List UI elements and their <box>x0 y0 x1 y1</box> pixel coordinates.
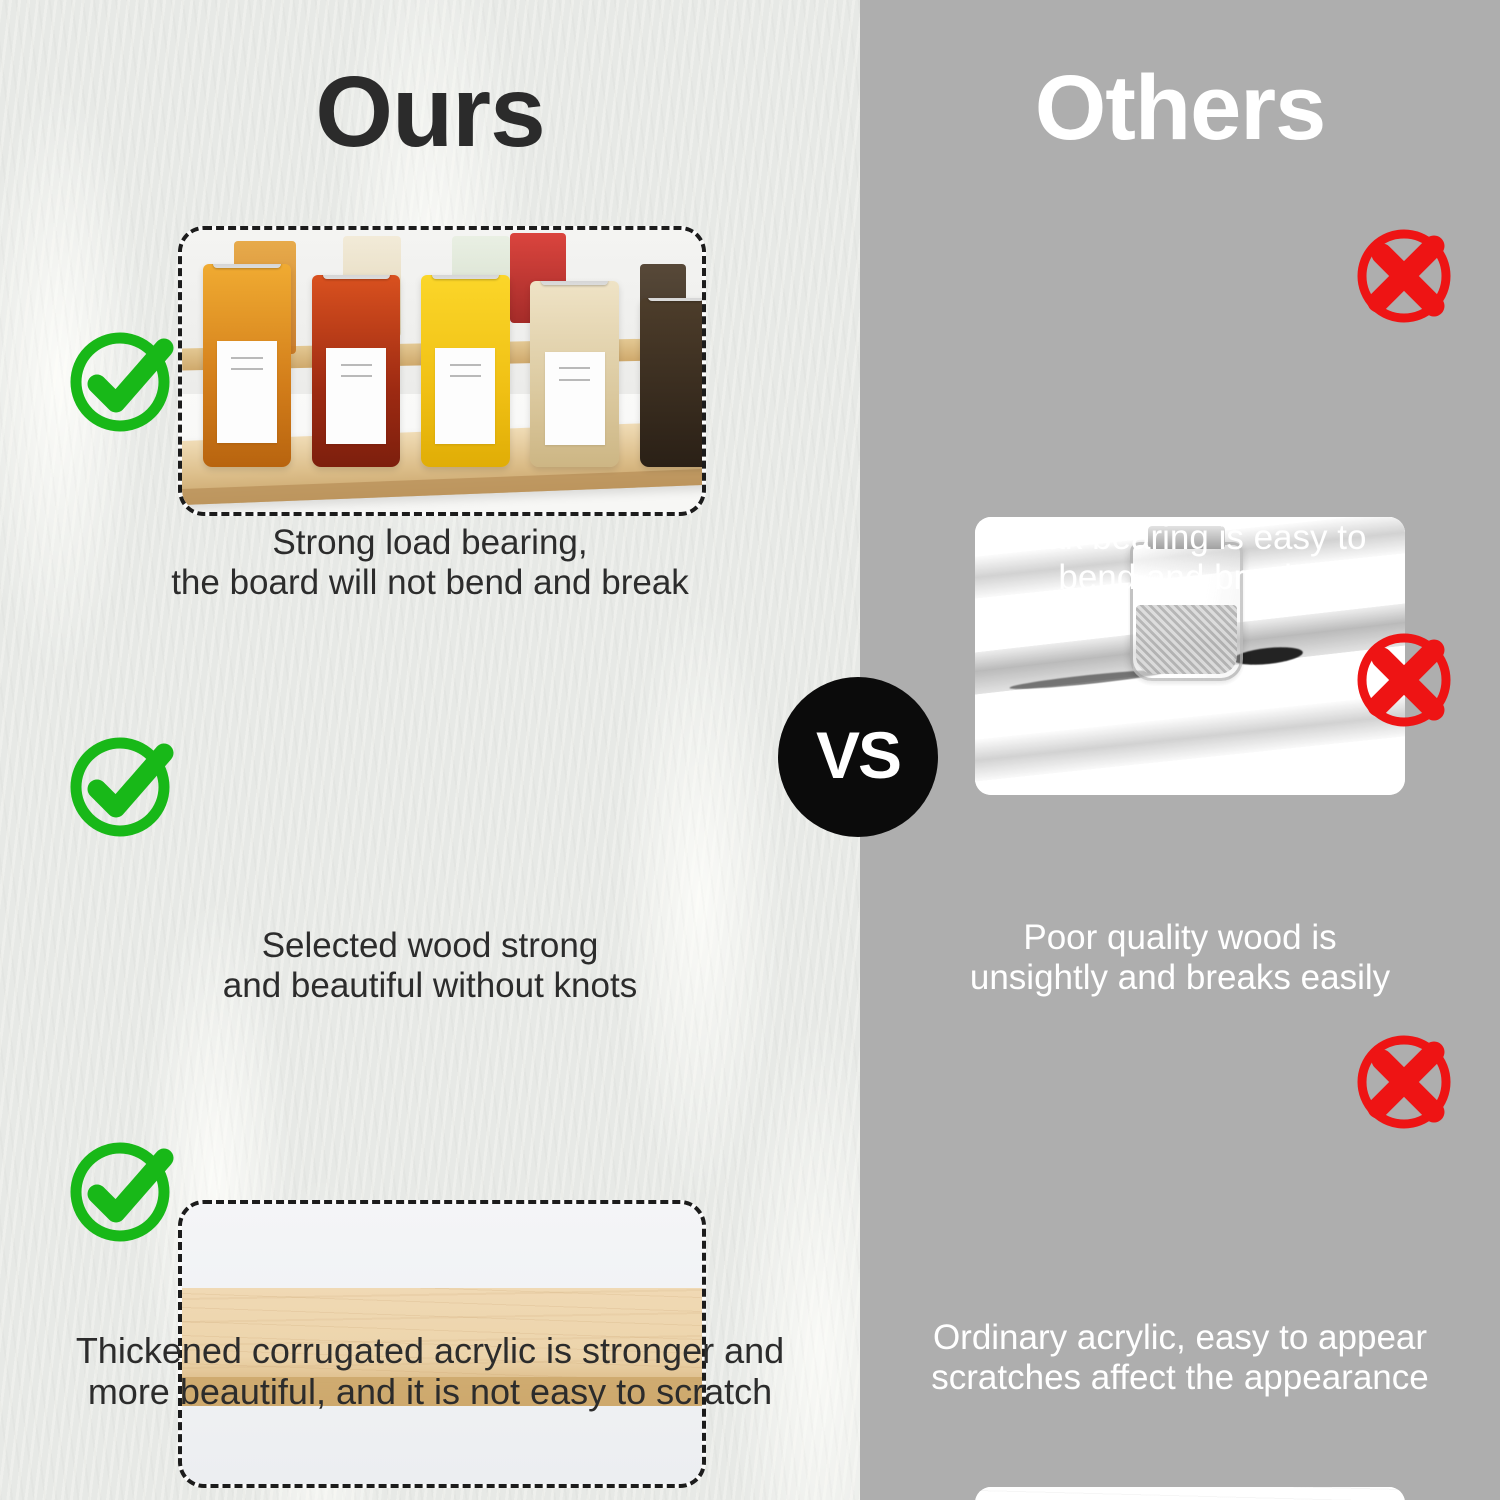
check-circle-icon <box>62 1128 182 1253</box>
ours-caption-2-line1: Selected wood strong <box>0 926 860 966</box>
ours-image-1 <box>178 226 706 516</box>
check-circle-icon <box>62 723 182 848</box>
ours-caption-1-line1: Strong load bearing, <box>0 523 860 563</box>
others-caption-2: Poor quality wood is unsightly and break… <box>860 918 1500 999</box>
cross-circle-icon <box>1348 620 1464 741</box>
others-caption-1: Weak bearing is easy to bend and break <box>860 518 1500 599</box>
vs-badge-label: VS <box>816 722 900 788</box>
ours-header: Ours <box>0 62 860 162</box>
ours-caption-2: Selected wood strong and beautiful witho… <box>0 926 860 1007</box>
others-header: Others <box>860 62 1500 154</box>
poor-wood-scene <box>975 1487 1405 1500</box>
others-caption-3: Ordinary acrylic, easy to appear scratch… <box>860 1318 1500 1399</box>
ours-caption-3-line1: Thickened corrugated acrylic is stronger… <box>0 1330 860 1371</box>
others-caption-2-line2: unsightly and breaks easily <box>860 958 1500 998</box>
ours-caption-3: Thickened corrugated acrylic is stronger… <box>0 1330 860 1413</box>
cross-circle-icon <box>1348 1022 1464 1143</box>
ours-image-1-content <box>182 230 702 512</box>
cross-circle-icon <box>1348 216 1464 337</box>
comparison-infographic: Ours Others <box>0 0 1500 1500</box>
others-caption-1-line1: Weak bearing is easy to <box>860 518 1500 558</box>
others-caption-2-line1: Poor quality wood is <box>860 918 1500 958</box>
others-image-2 <box>975 1487 1405 1500</box>
others-caption-1-line2: bend and break <box>860 558 1500 598</box>
vs-badge: VS <box>778 677 938 837</box>
check-circle-icon <box>62 318 182 443</box>
ours-caption-3-line2: more beautiful, and it is not easy to sc… <box>0 1371 860 1412</box>
others-caption-3-line1: Ordinary acrylic, easy to appear <box>860 1318 1500 1358</box>
ours-caption-1: Strong load bearing, the board will not … <box>0 523 860 604</box>
others-caption-3-line2: scratches affect the appearance <box>860 1358 1500 1398</box>
ours-caption-1-line2: the board will not bend and break <box>0 563 860 603</box>
ours-caption-2-line2: and beautiful without knots <box>0 966 860 1006</box>
spice-shelf-scene <box>182 230 702 512</box>
